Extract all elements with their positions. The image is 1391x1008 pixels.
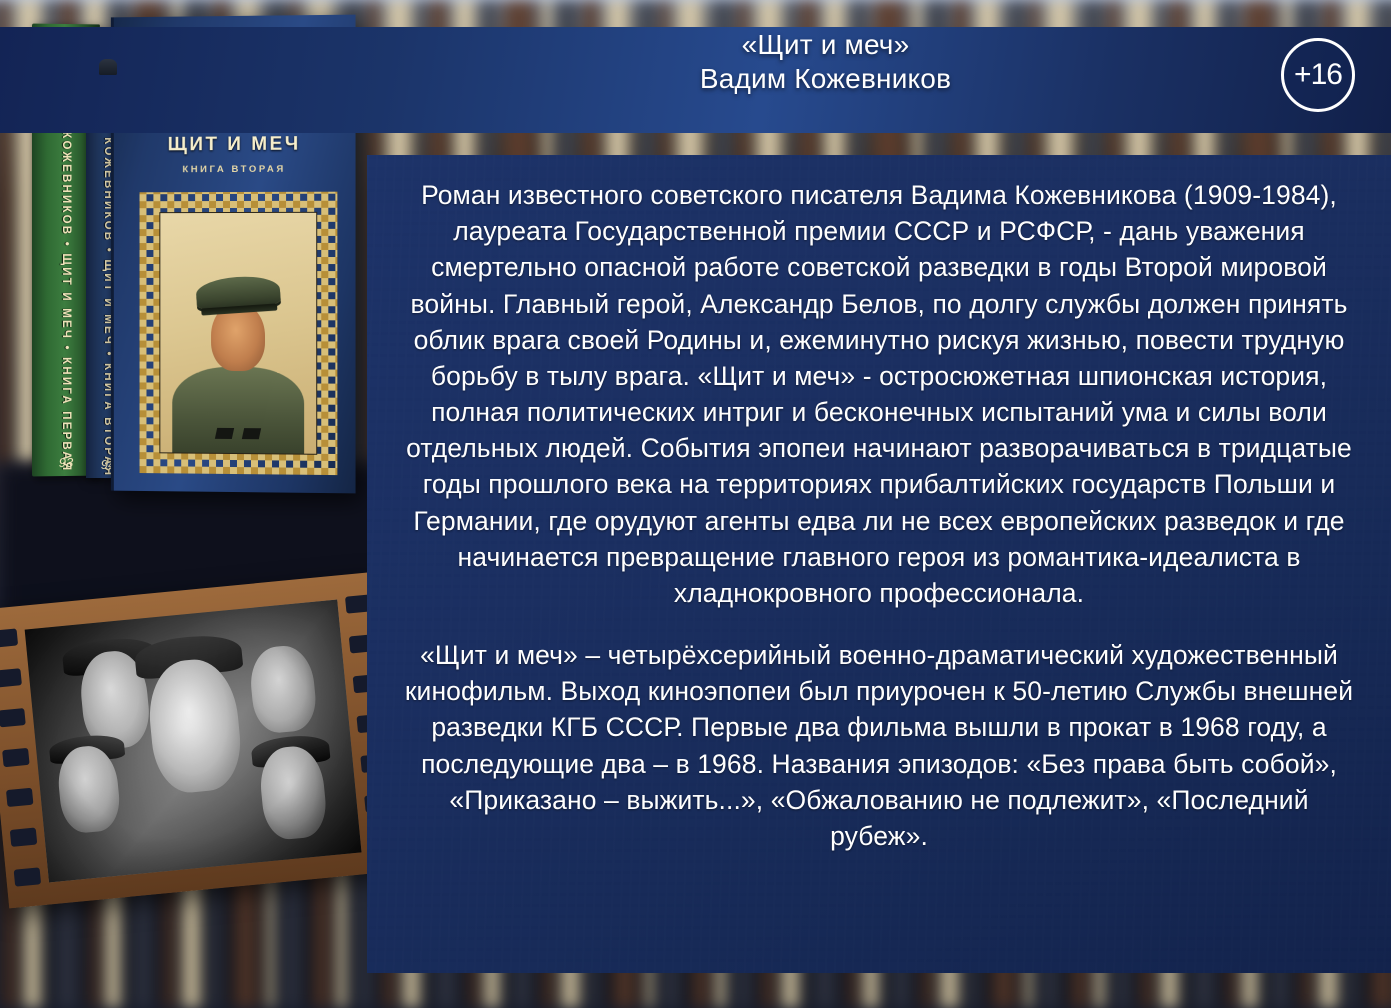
film-perforation — [14, 867, 42, 886]
cover-book-subtitle: КНИГА ВТОРАЯ — [114, 163, 356, 175]
illustration-officer-cap — [195, 274, 281, 310]
film-perforation — [10, 827, 38, 846]
film-strip-photo — [0, 572, 405, 909]
film-perforation — [0, 628, 18, 647]
description-paragraph-book: Роман известного советского писателя Вад… — [401, 177, 1357, 611]
description-paragraph-film: «Щит и меч» – четырёхсерийный военно-дра… — [401, 637, 1357, 854]
age-rating-badge: +16 — [1281, 38, 1355, 112]
movie-still-image — [25, 600, 362, 883]
cover-illustration — [159, 212, 317, 455]
description-panel: Роман известного советского писателя Вад… — [367, 155, 1391, 973]
poster-canvas: В. КОЖЕВНИКОВ • ЩИТ И МЕЧ • КНИГА ПЕРВАЯ… — [0, 0, 1391, 1008]
illustration-collar-tab-right — [242, 428, 261, 439]
page-title: «Щит и меч» Вадим Кожевников — [380, 28, 1271, 96]
cover-book-title: ЩИТ И МЕЧ — [114, 133, 356, 156]
page-title-line-one: «Щит и меч» — [742, 29, 910, 60]
illustration-collar-tab-left — [214, 428, 233, 439]
illustration-uniform — [172, 366, 304, 453]
still-vignette — [25, 600, 362, 883]
film-perforation — [0, 708, 26, 727]
page-title-line-two: Вадим Кожевников — [380, 62, 1271, 96]
film-perforation — [6, 788, 34, 807]
film-perforation — [2, 748, 30, 767]
film-perforation — [0, 668, 22, 687]
